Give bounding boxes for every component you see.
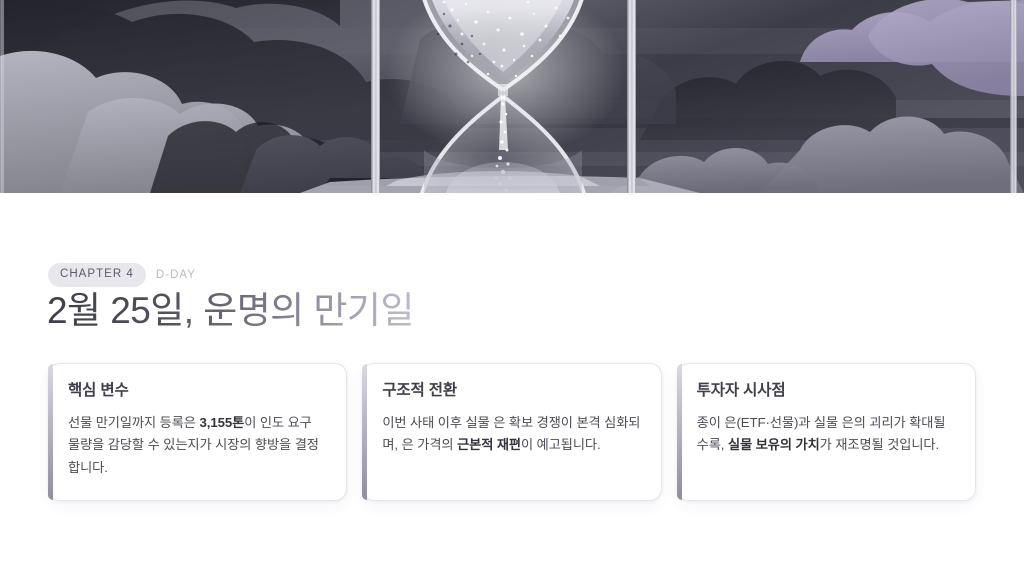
chapter-badge: CHAPTER 4 xyxy=(48,263,146,287)
card-body-post: 이 예고됩니다. xyxy=(521,437,601,452)
card-body-pre: 선물 만기일까지 등록은 xyxy=(68,415,199,430)
insight-card: 투자자 시사점 종이 은(ETF·선물)과 실물 은의 괴리가 확대될수록, 실… xyxy=(677,363,976,501)
hero-illustration xyxy=(0,0,1024,193)
card-title: 구조적 전환 xyxy=(382,382,640,401)
card-body: 종이 은(ETF·선물)과 실물 은의 괴리가 확대될수록, 실물 보유의 가치… xyxy=(697,412,955,457)
insight-card: 구조적 전환 이번 사태 이후 실물 은 확보 경쟁이 본격 심화되며, 은 가… xyxy=(362,363,661,501)
card-body-post: 가 재조명될 것입니다. xyxy=(820,437,939,452)
card-title: 투자자 시사점 xyxy=(697,382,955,401)
card-body-highlight: 근본적 재편 xyxy=(457,437,521,452)
insight-card: 핵심 변수 선물 만기일까지 등록은 3,155톤이 인도 요구 물량을 감당할… xyxy=(48,363,347,501)
dday-label: D-DAY xyxy=(156,269,196,281)
breadcrumb: CHAPTER 4 D-DAY xyxy=(48,263,196,287)
card-body: 선물 만기일까지 등록은 3,155톤이 인도 요구 물량을 감당할 수 있는지… xyxy=(68,412,326,480)
card-body-highlight: 실물 보유의 가치 xyxy=(728,437,820,452)
card-title: 핵심 변수 xyxy=(68,382,326,401)
card-body: 이번 사태 이후 실물 은 확보 경쟁이 본격 심화되며, 은 가격의 근본적 … xyxy=(382,412,640,457)
content-area: CHAPTER 4 D-DAY 2월 25일, 운명의 만기일 핵심 변수 선물… xyxy=(0,193,1024,576)
card-body-highlight: 3,155톤 xyxy=(199,415,244,430)
page-title: 2월 25일, 운명의 만기일 xyxy=(47,290,414,333)
card-grid: 핵심 변수 선물 만기일까지 등록은 3,155톤이 인도 요구 물량을 감당할… xyxy=(48,363,976,501)
hourglass-night-sky-illustration xyxy=(0,0,1024,193)
